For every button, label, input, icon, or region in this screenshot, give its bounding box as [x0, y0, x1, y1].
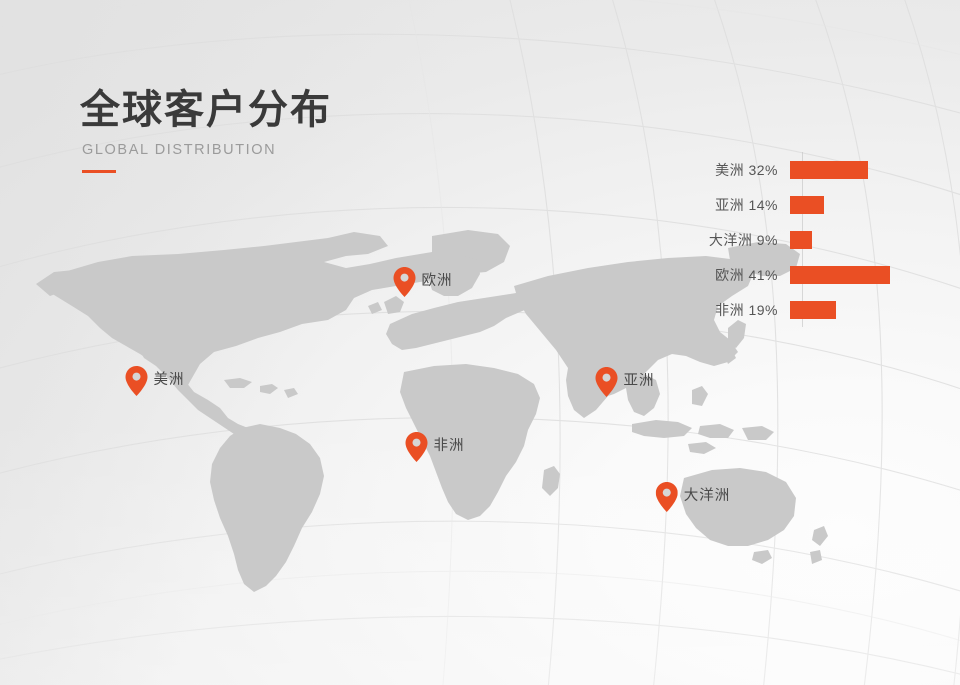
page-title: 全球客户分布 — [80, 88, 500, 132]
chart-row: 亚洲 14% — [700, 187, 940, 222]
map-pin-icon — [656, 482, 678, 512]
map-pin-icon — [394, 267, 416, 297]
slide-canvas: 全球客户分布 GLOBAL DISTRIBUTION — [0, 0, 960, 685]
map-marker-label: 亚洲 — [624, 369, 655, 390]
chart-row: 欧洲 41% — [700, 257, 940, 292]
chart-row-label: 大洋洲 9% — [700, 230, 790, 250]
chart-row-label: 美洲 32% — [700, 160, 790, 180]
map-marker-label: 美洲 — [154, 368, 185, 389]
chart-bar-track — [790, 152, 940, 187]
map-marker-asia[interactable]: 亚洲 — [596, 367, 655, 397]
map-marker-oceania[interactable]: 大洋洲 — [656, 482, 731, 512]
chart-bar[interactable] — [790, 301, 836, 319]
chart-bar[interactable] — [790, 161, 868, 179]
chart-bar-track — [790, 257, 940, 292]
map-marker-label: 非洲 — [434, 434, 465, 455]
map-pin-icon — [126, 366, 148, 396]
chart-row-label: 亚洲 14% — [700, 195, 790, 215]
map-marker-americas[interactable]: 美洲 — [126, 366, 185, 396]
chart-row-label: 欧洲 41% — [700, 265, 790, 285]
map-marker-africa[interactable]: 非洲 — [406, 432, 465, 462]
chart-bar[interactable] — [790, 231, 812, 249]
title-accent-rule — [82, 170, 116, 173]
map-pin-icon — [596, 367, 618, 397]
map-pin-icon — [406, 432, 428, 462]
chart-bar-track — [790, 292, 940, 327]
chart-bar-track — [790, 187, 940, 222]
map-marker-label: 大洋洲 — [684, 484, 731, 505]
header-block: 全球客户分布 GLOBAL DISTRIBUTION — [80, 88, 500, 173]
chart-row: 非洲 19% — [700, 292, 940, 327]
chart-row-label: 非洲 19% — [700, 300, 790, 320]
chart-row: 大洋洲 9% — [700, 222, 940, 257]
map-marker-europe[interactable]: 欧洲 — [394, 267, 453, 297]
chart-bar-track — [790, 222, 940, 257]
map-marker-label: 欧洲 — [422, 269, 453, 290]
chart-row: 美洲 32% — [700, 152, 940, 187]
chart-bar[interactable] — [790, 196, 824, 214]
distribution-bar-chart: 美洲 32% 亚洲 14% 大洋洲 9% 欧洲 41% 非洲 19% — [700, 152, 940, 327]
chart-bar[interactable] — [790, 266, 890, 284]
page-subtitle: GLOBAL DISTRIBUTION — [82, 142, 500, 158]
